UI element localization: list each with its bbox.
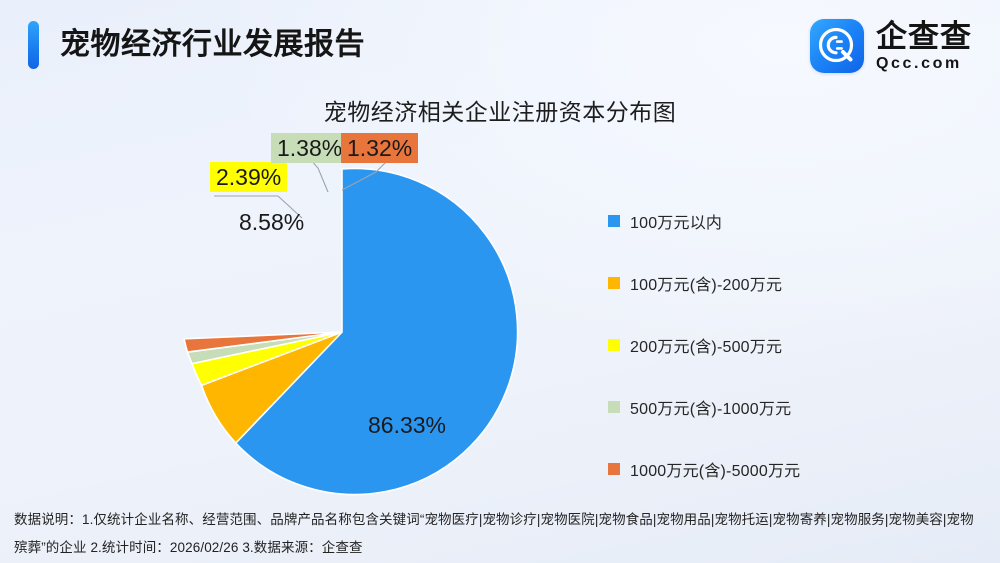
brand-logo: 企查查 Qcc.com <box>810 18 972 74</box>
page-title: 宠物经济行业发展报告 <box>60 20 365 70</box>
legend-swatch-icon-4 <box>608 463 620 475</box>
legend-label-0: 100万元以内 <box>630 209 722 233</box>
brand-name-en: Qcc.com <box>876 56 972 72</box>
legend-label-3: 500万元(含)-1000万元 <box>630 395 791 419</box>
pie-label-138: 1.38% <box>271 133 348 163</box>
qcc-logo-icon <box>810 19 864 73</box>
legend-item-4[interactable]: 1000万元(含)-5000万元 <box>608 438 988 500</box>
brand-text: 企查查 Qcc.com <box>876 21 972 72</box>
legend-swatch-icon-1 <box>608 277 620 289</box>
legend-label-2: 200万元(含)-500万元 <box>630 333 782 357</box>
legend-swatch-icon-2 <box>608 339 620 351</box>
legend-swatch-icon-0 <box>608 215 620 227</box>
footnote: 数据说明：1.仅统计企业名称、经营范围、品牌产品名称包含关键词“宠物医疗|宠物诊… <box>14 506 986 562</box>
legend-item-2[interactable]: 200万元(含)-500万元 <box>608 314 988 376</box>
legend-item-3[interactable]: 500万元(含)-1000万元 <box>608 376 988 438</box>
pie-label-132: 1.32% <box>341 133 418 163</box>
pie-slices <box>184 169 518 495</box>
legend-item-0[interactable]: 100万元以内 <box>608 190 988 252</box>
legend-swatch-icon-3 <box>608 401 620 413</box>
brand-name-cn: 企查查 <box>876 21 972 52</box>
legend-item-1[interactable]: 100万元(含)-200万元 <box>608 252 988 314</box>
pie-label-858: 8.58% <box>239 209 304 235</box>
chart-legend: 100万元以内 100万元(含)-200万元 200万元(含)-500万元 50… <box>608 190 988 500</box>
title-accent-bar <box>28 21 39 69</box>
pie-label-86: 86.33% <box>368 412 446 438</box>
legend-label-1: 100万元(含)-200万元 <box>630 271 782 295</box>
legend-label-4: 1000万元(含)-5000万元 <box>630 457 800 481</box>
pie-label-239: 2.39% <box>210 162 287 192</box>
page-header: 宠物经济行业发展报告 企查查 Qcc.com <box>0 0 1000 88</box>
